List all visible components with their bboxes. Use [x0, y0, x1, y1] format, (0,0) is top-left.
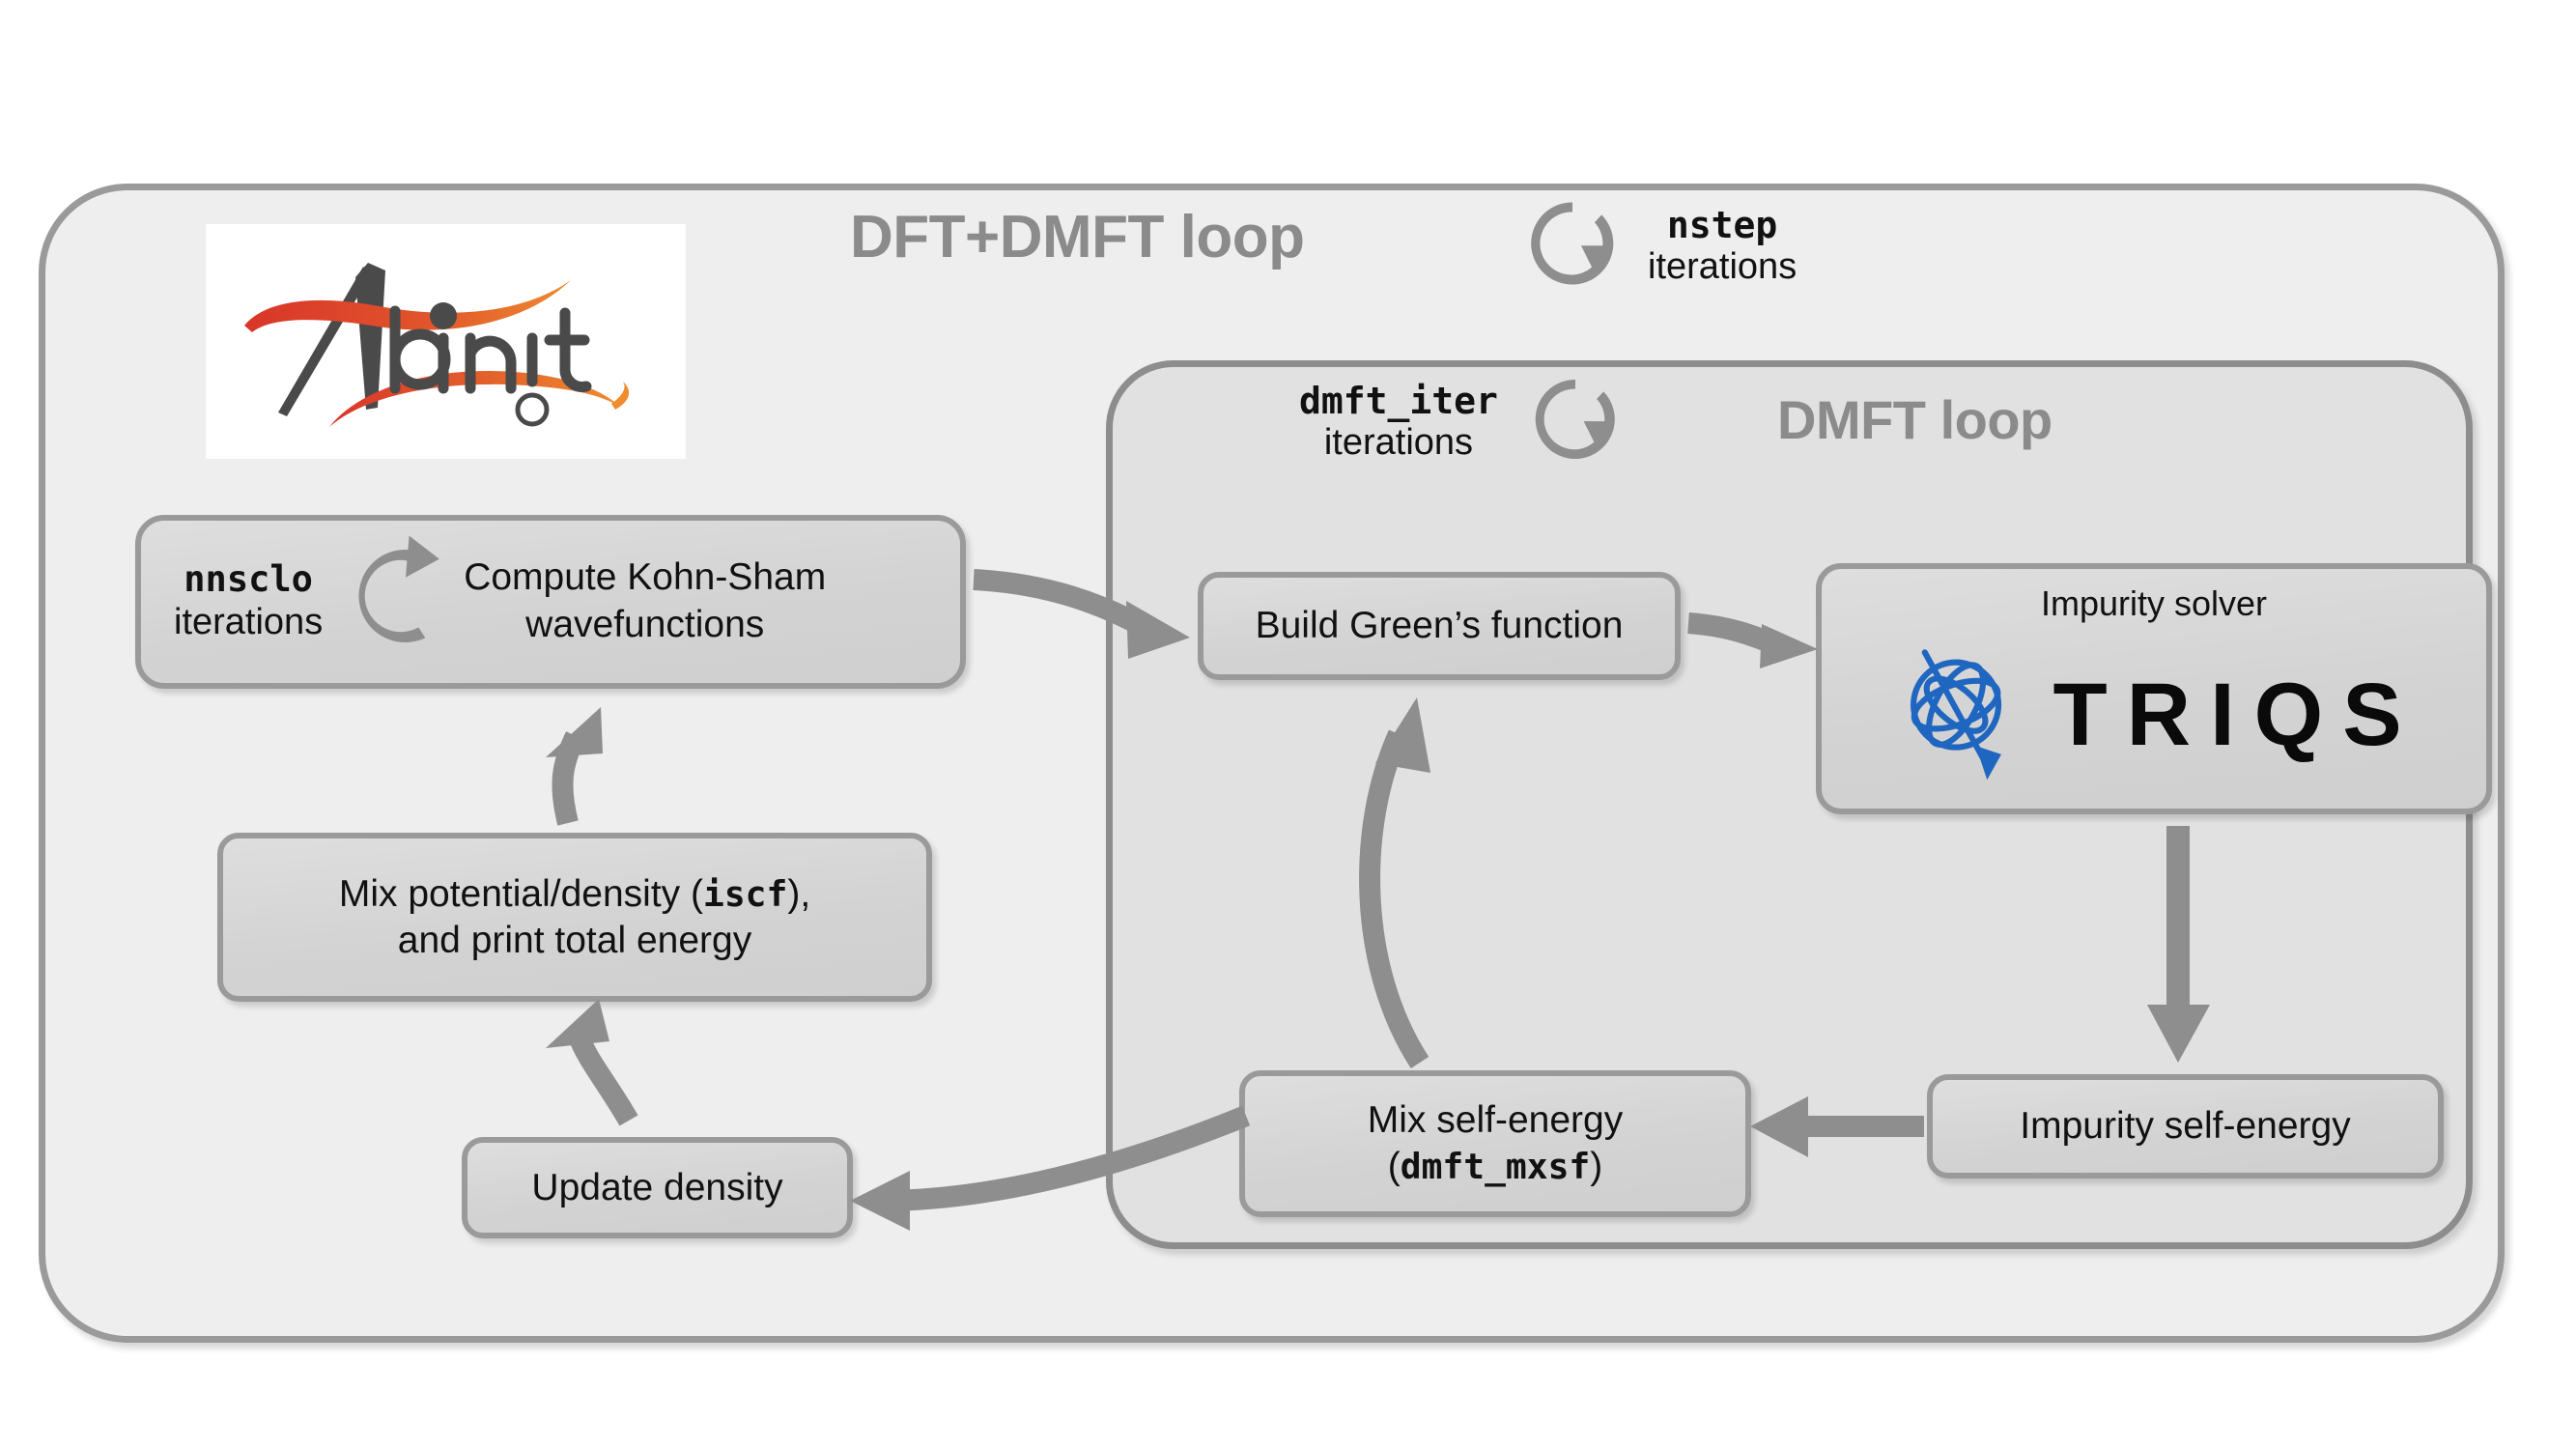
nnsclo-label: nnsclo iterations: [174, 559, 323, 643]
node-update-density[interactable]: Update density: [462, 1137, 853, 1238]
nnsclo-group: nnsclo iterations Compute Kohn-Sham wave…: [174, 528, 826, 675]
build-green-label: Build Green’s function: [1256, 603, 1624, 649]
nstep-variable: nstep: [1648, 205, 1797, 246]
dmft-loop-title: DMFT loop: [1777, 388, 2052, 451]
mix-potential-line1-pre: Mix potential/density (: [339, 873, 703, 915]
circular-arrow-icon: [1518, 189, 1627, 302]
node-mix-self-energy[interactable]: Mix self-energy (dmft_mxsf): [1239, 1070, 1751, 1217]
nnsclo-caption: iterations: [174, 602, 323, 642]
dmft-mxsf-code: dmft_mxsf: [1401, 1146, 1591, 1187]
update-density-label: Update density: [531, 1165, 782, 1211]
diagram-canvas: DFT+DMFT loop nstep iterations: [0, 0, 2576, 1449]
mix-self-energy-line2: (dmft_mxsf): [1368, 1144, 1623, 1190]
kohn-sham-line1: Compute Kohn-Sham: [464, 554, 826, 602]
mix-self-energy-line1: Mix self-energy: [1368, 1097, 1623, 1144]
iscf-code: iscf: [703, 873, 787, 915]
mix-potential-line1-post: ),: [787, 873, 810, 915]
kohn-sham-text: Compute Kohn-Sham wavefunctions: [464, 554, 826, 649]
refresh-loop-icon: [342, 528, 458, 675]
dmft-iter-variable: dmft_iter: [1299, 381, 1498, 422]
nstep-iteration-badge: nstep iterations: [1518, 189, 1797, 302]
node-mix-potential-density[interactable]: Mix potential/density (iscf), and print …: [217, 833, 932, 1002]
nnsclo-variable: nnsclo: [184, 558, 313, 600]
kohn-sham-line2: wavefunctions: [464, 602, 826, 649]
abinit-logo: [206, 224, 686, 459]
triqs-wordmark: TRIQS: [2052, 661, 2420, 769]
impurity-self-energy-label: Impurity self-energy: [2020, 1103, 2350, 1150]
dmft-iter-iteration-badge: dmft_iter iterations: [1299, 367, 1628, 476]
nstep-badge-text: nstep iterations: [1648, 205, 1797, 287]
mix-potential-line2: and print total energy: [339, 918, 810, 964]
circular-arrow-icon: [1523, 367, 1628, 476]
node-build-greens-function[interactable]: Build Green’s function: [1198, 572, 1681, 680]
mix-self-energy-paren-open: (: [1388, 1146, 1401, 1187]
node-compute-kohn-sham[interactable]: nnsclo iterations Compute Kohn-Sham wave…: [135, 515, 966, 689]
mix-potential-line1: Mix potential/density (iscf),: [339, 871, 810, 918]
mix-self-energy-paren-close: ): [1590, 1146, 1602, 1187]
triqs-orbital-icon: [1886, 627, 2031, 803]
dmft-iter-caption: iterations: [1299, 422, 1498, 464]
nstep-caption: iterations: [1648, 246, 1797, 288]
dft-dmft-loop-title: DFT+DMFT loop: [850, 203, 1304, 271]
node-impurity-self-energy[interactable]: Impurity self-energy: [1927, 1074, 2444, 1179]
node-impurity-solver[interactable]: Impurity solver TRIQS: [1816, 563, 2492, 814]
mix-potential-text: Mix potential/density (iscf), and print …: [339, 871, 810, 963]
impurity-solver-caption: Impurity solver: [2041, 582, 2267, 625]
dmft-iter-badge-text: dmft_iter iterations: [1299, 381, 1498, 463]
triqs-logo-row: TRIQS: [1822, 627, 2486, 803]
mix-self-energy-text: Mix self-energy (dmft_mxsf): [1368, 1097, 1623, 1189]
